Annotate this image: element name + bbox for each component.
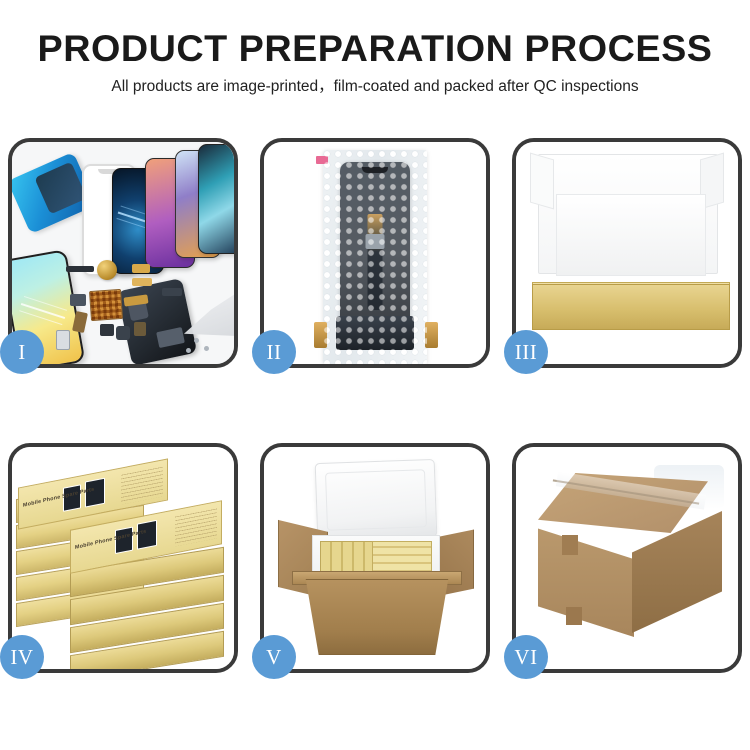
step-badge-vi: VI xyxy=(504,635,548,679)
small-part-icon xyxy=(132,278,152,286)
small-part-icon xyxy=(100,324,114,336)
screw-icon xyxy=(186,348,191,353)
step-badge-i: I xyxy=(0,330,44,374)
retail-box-label-text: Mobile Phone Spare Parts xyxy=(75,529,146,551)
screw-icon xyxy=(194,338,199,343)
phone-display-teal-icon xyxy=(198,144,234,254)
small-part-icon xyxy=(66,266,94,272)
small-part-icon xyxy=(70,294,86,306)
step-image-foam-lined-carton xyxy=(264,447,486,669)
checklist-lines-icon xyxy=(175,508,217,546)
step-card-iv: Mobile Phone Spare Parts Mobile Phone Sp… xyxy=(8,443,238,673)
pink-label-tag-icon xyxy=(316,156,328,164)
step-image-phone-parts-assortment xyxy=(12,142,234,364)
checklist-lines-icon xyxy=(121,466,163,504)
header: PRODUCT PREPARATION PROCESS All products… xyxy=(0,0,750,95)
box-stack: Mobile Phone Spare Parts Mobile Phone Sp… xyxy=(12,447,234,669)
product-preparation-infographic: PRODUCT PREPARATION PROCESS All products… xyxy=(0,0,750,750)
step-card-ii: II xyxy=(260,138,490,368)
small-part-icon xyxy=(162,288,182,296)
connector-base-icon xyxy=(336,316,414,350)
flex-connector-pad-icon xyxy=(366,234,385,249)
step-badge-iv: IV xyxy=(0,635,44,679)
gold-contact-icon xyxy=(314,322,327,348)
process-steps-grid: I II xyxy=(0,138,750,673)
foam-lid-icon xyxy=(315,459,438,541)
step-card-i: I xyxy=(8,138,238,368)
screw-icon xyxy=(204,346,209,351)
small-part-icon xyxy=(72,311,88,333)
box-tray-icon xyxy=(532,284,730,330)
retail-box-label-text: Mobile Phone Spare Parts xyxy=(23,487,94,509)
page-title: PRODUCT PREPARATION PROCESS xyxy=(0,30,750,67)
box-flap-left-icon xyxy=(530,153,554,210)
speaker-coil-icon xyxy=(97,260,117,280)
step-image-bubble-wrapped-screen xyxy=(264,142,486,364)
step-image-sealed-shipping-carton xyxy=(516,447,738,669)
step-card-vi: VI xyxy=(512,443,742,673)
carton-tab-icon xyxy=(566,607,582,625)
small-part-icon xyxy=(56,330,70,350)
step-image-stacked-retail-boxes: Mobile Phone Spare Parts Mobile Phone Sp… xyxy=(12,447,234,669)
small-part-icon xyxy=(132,264,150,273)
small-part-icon xyxy=(116,326,130,340)
foam-sheet-icon xyxy=(556,194,706,276)
step-badge-ii: II xyxy=(252,330,296,374)
step-badge-v: V xyxy=(252,635,296,679)
gold-contact-icon xyxy=(425,322,438,348)
step-card-iii: III xyxy=(512,138,742,368)
small-part-icon xyxy=(134,322,146,336)
step-badge-iii: III xyxy=(504,330,548,374)
chip-array-icon xyxy=(89,289,123,321)
carton-front-icon xyxy=(296,579,458,655)
flex-cable-icon xyxy=(368,214,383,310)
carton-left-face-icon xyxy=(538,519,634,637)
step-card-v: V xyxy=(260,443,490,673)
step-image-open-inner-box xyxy=(516,142,738,364)
page-subtitle: All products are image-printed，film-coat… xyxy=(0,79,750,95)
carton-tab-icon xyxy=(562,535,578,555)
